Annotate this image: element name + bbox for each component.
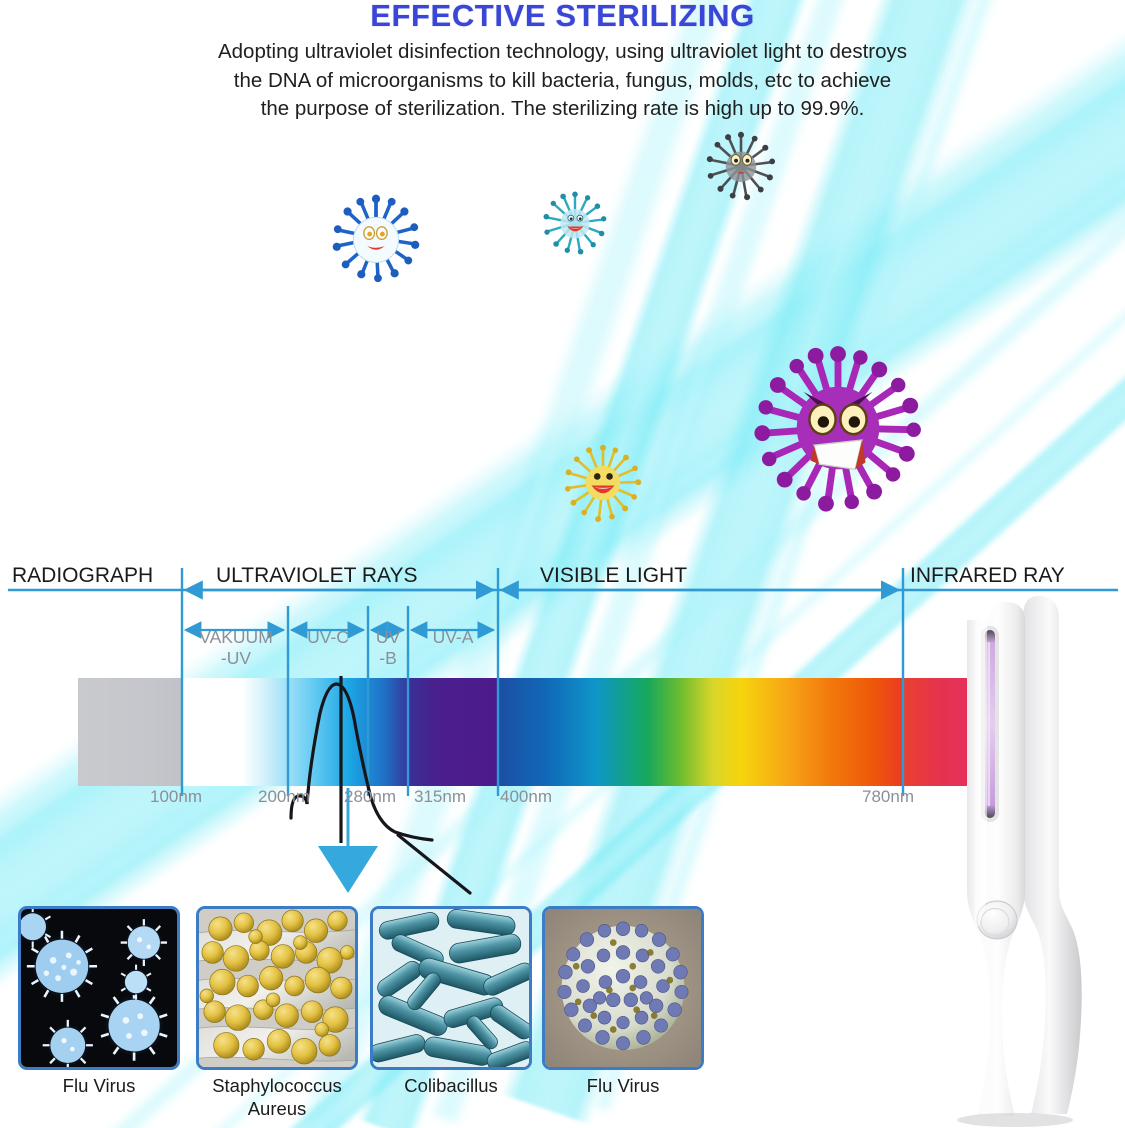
- germ-teal-smiling-icon: [540, 188, 610, 258]
- uv-subband-label-uva: UV-A: [412, 627, 494, 648]
- tick-label-100nm: 100nm: [150, 787, 202, 807]
- uv-subband-vakuum-line2: -UV: [184, 648, 288, 669]
- uv-subband-uvb-line2: -B: [370, 648, 406, 669]
- uv-lamp-highlight: [988, 642, 991, 806]
- sample-photo-flu-virus-2[interactable]: [542, 906, 704, 1070]
- band-label-ultraviolet: ULTRAVIOLET RAYS: [216, 564, 418, 588]
- wand-base-shadow: [957, 1113, 1073, 1127]
- tick-label-400nm: 400nm: [500, 787, 552, 807]
- uv-subband-vakuum-line1: VAKUUM: [184, 627, 288, 648]
- page-description: Adopting ultraviolet disinfection techno…: [90, 38, 1035, 124]
- tick-label-315nm: 315nm: [414, 787, 466, 807]
- uv-subband-uvc-line1: UV-C: [290, 627, 366, 648]
- flu-virus-sphere-micrograph: [545, 909, 701, 1067]
- germ-dark-staring-icon: [703, 128, 779, 204]
- sample-caption-3-line1: Colibacillus: [361, 1074, 541, 1097]
- uv-subband-label-vakuum: VAKUUM -UV: [184, 627, 288, 669]
- sample-caption-4: Flu Virus: [533, 1074, 713, 1097]
- uv-subband-label-uvc: UV-C: [290, 627, 366, 648]
- germ-yellow-smiling-icon: [562, 442, 644, 524]
- sample-caption-2-line1: Staphylococcus: [187, 1074, 367, 1097]
- uv-subband-label-uvb: UV -B: [370, 627, 406, 669]
- sample-photo-gallery: Flu Virus: [0, 906, 720, 1128]
- sample-caption-2: Staphylococcus Aureus: [187, 1074, 367, 1120]
- sample-photo-colibacillus[interactable]: [370, 906, 532, 1070]
- description-line-2: the DNA of microorganisms to kill bacter…: [90, 67, 1035, 96]
- wand-body-highlight: [975, 614, 987, 934]
- germ-purple-angry-icon: [752, 342, 924, 514]
- sample-caption-1: Flu Virus: [9, 1074, 189, 1097]
- tick-label-280nm: 280nm: [344, 787, 396, 807]
- sample-photo-flu-virus-1[interactable]: [18, 906, 180, 1070]
- staphylococcus-aureus-micrograph: [199, 909, 355, 1067]
- germ-blue-smiling-icon: [327, 189, 425, 287]
- sample-caption-4-line1: Flu Virus: [533, 1074, 713, 1097]
- page-title: EFFECTIVE STERILIZING: [0, 0, 1125, 34]
- band-label-visible: VISIBLE LIGHT: [540, 564, 687, 588]
- infographic-canvas: EFFECTIVE STERILIZING Adopting ultraviol…: [0, 0, 1125, 1128]
- sample-photo-staphylococcus[interactable]: [196, 906, 358, 1070]
- description-line-3: the purpose of sterilization. The steril…: [90, 95, 1035, 124]
- description-line-1: Adopting ultraviolet disinfection techno…: [90, 38, 1035, 67]
- tick-label-780nm: 780nm: [862, 787, 914, 807]
- sample-caption-2-line2: Aureus: [187, 1097, 367, 1120]
- colibacillus-rods-micrograph: [373, 909, 529, 1067]
- sample-caption-1-line1: Flu Virus: [9, 1074, 189, 1097]
- flu-virus-blue-micrograph: [21, 909, 177, 1067]
- uv-subband-uva-line1: UV-A: [412, 627, 494, 648]
- uv-sterilizer-wand[interactable]: [955, 590, 1125, 1128]
- tick-label-200nm: 200nm: [258, 787, 310, 807]
- uv-subband-uvb-line1: UV: [370, 627, 406, 648]
- band-label-radiograph: RADIOGRAPH: [12, 564, 153, 588]
- wand-rear-body: [1023, 596, 1082, 1114]
- band-label-infrared: INFRARED RAY: [910, 564, 1065, 588]
- sample-caption-3: Colibacillus: [361, 1074, 541, 1097]
